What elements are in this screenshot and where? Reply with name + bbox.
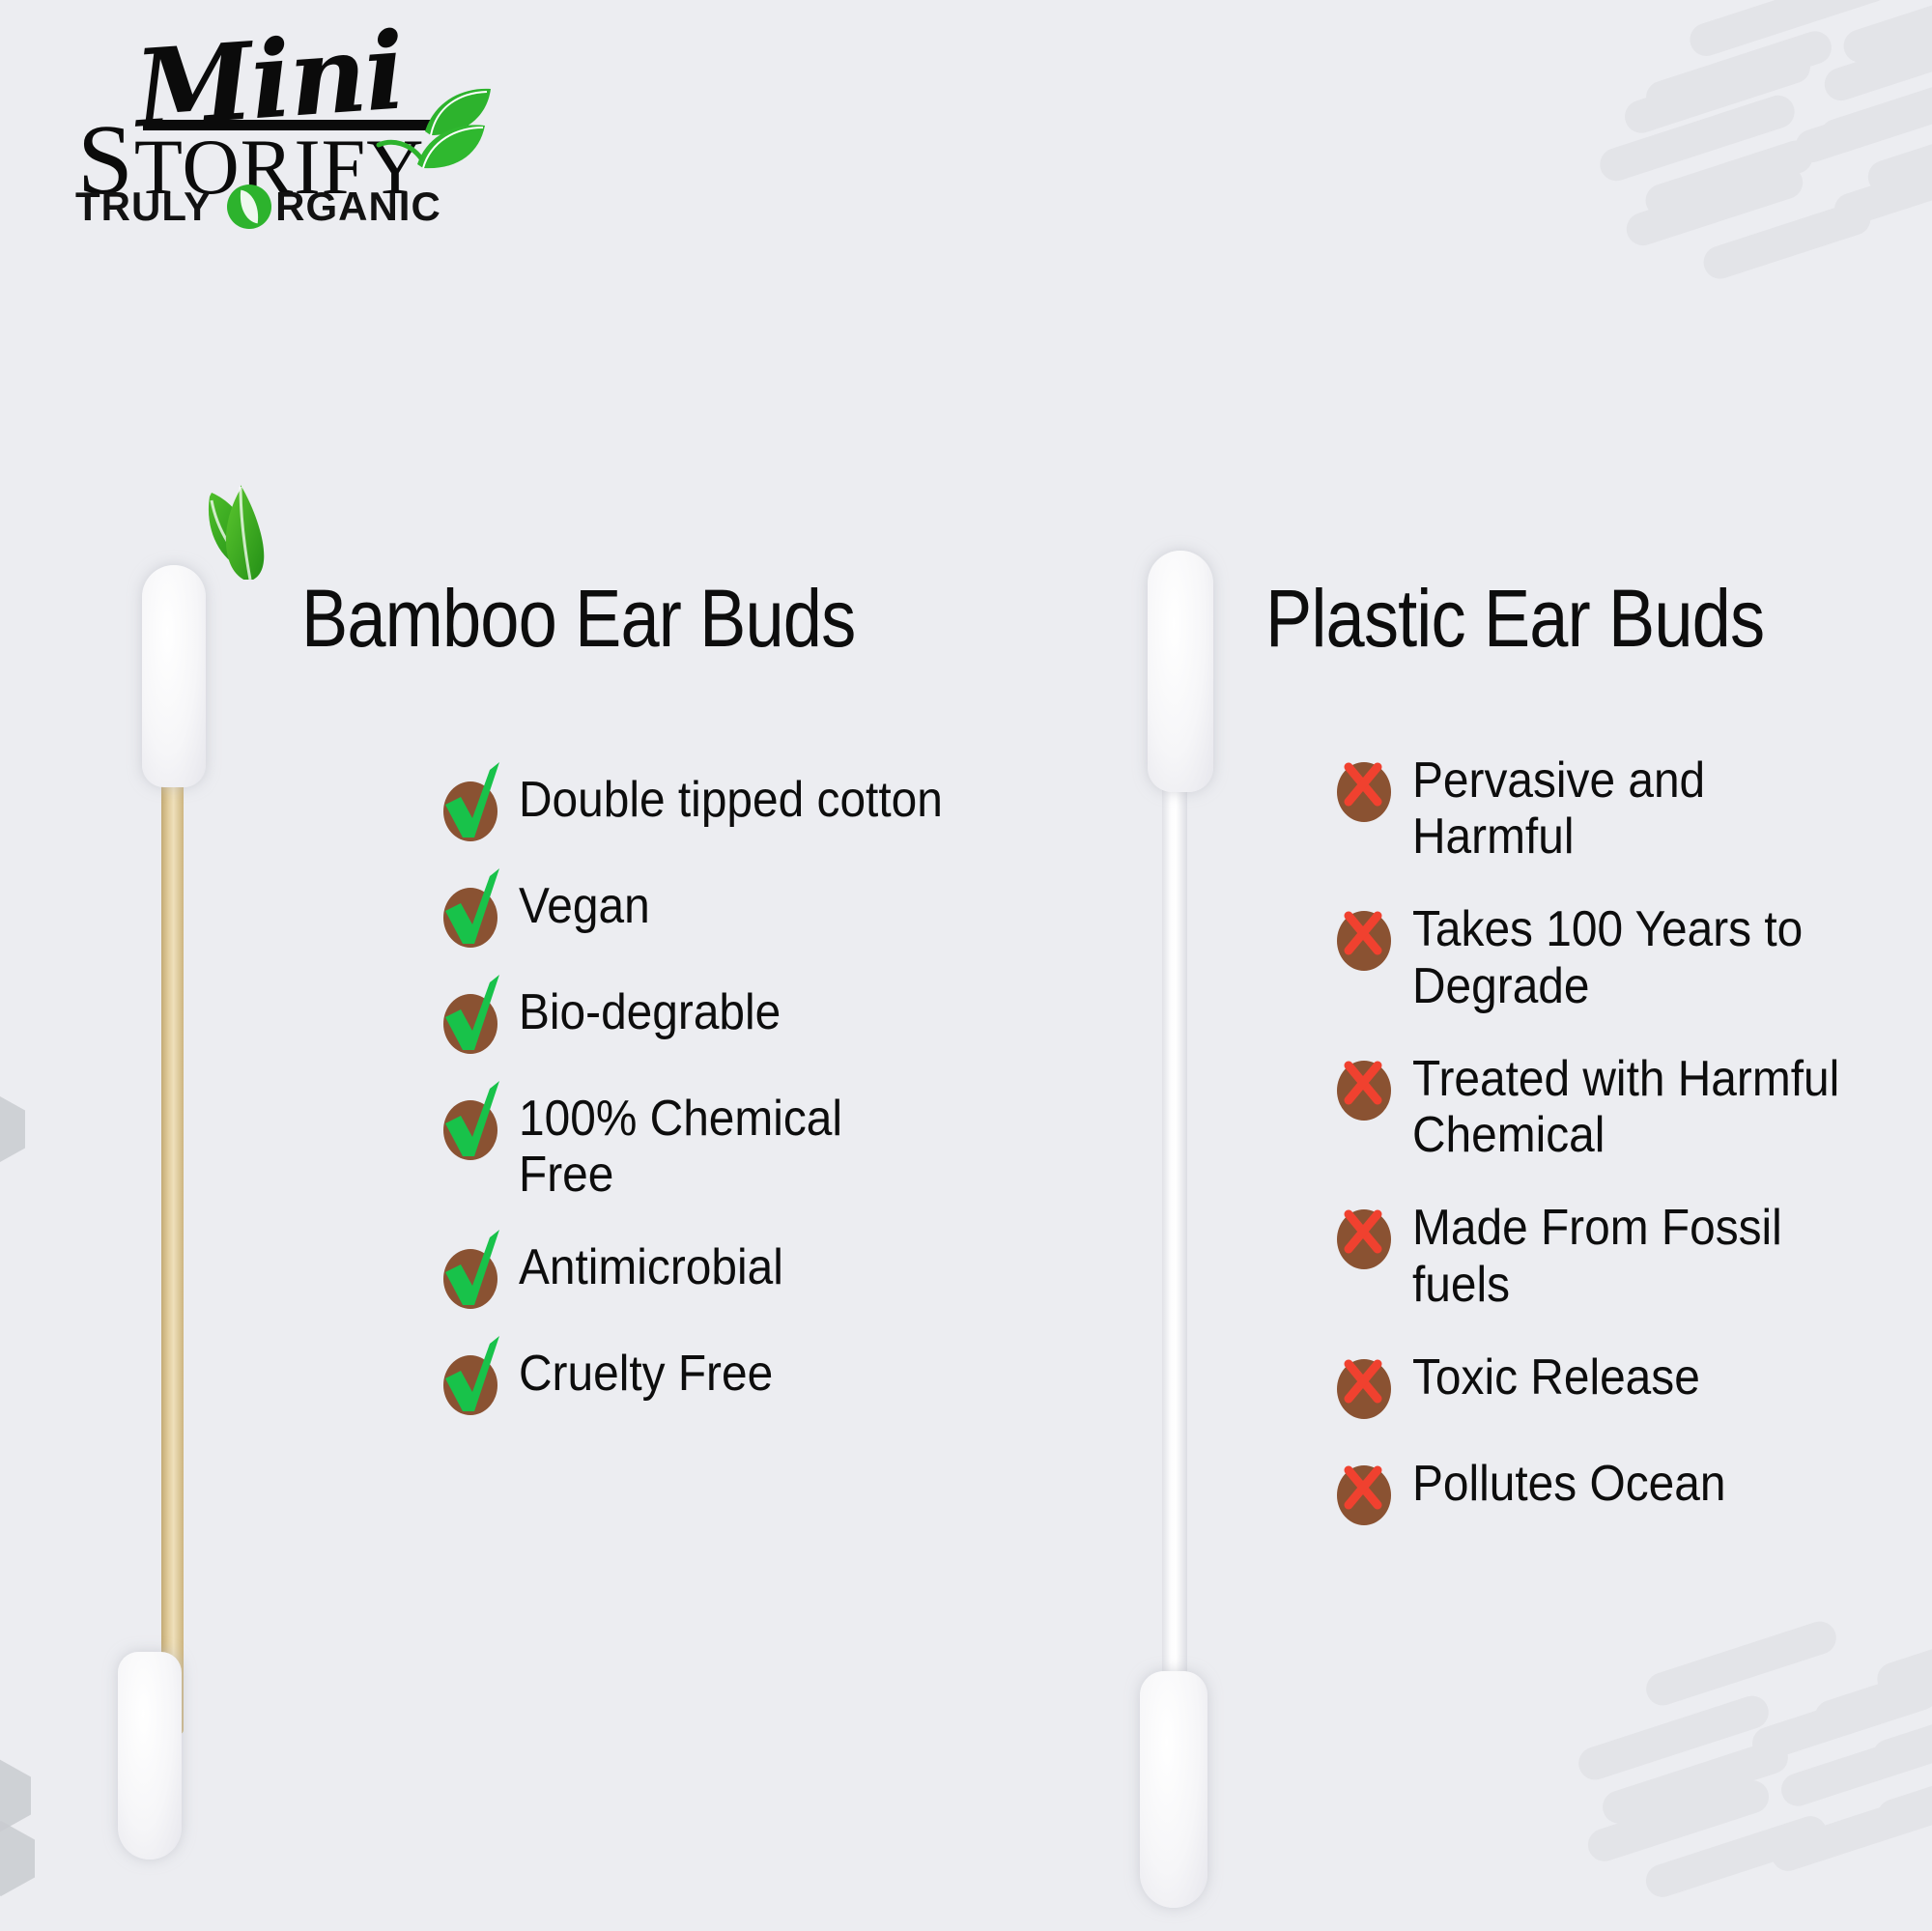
check-icon xyxy=(440,984,501,1054)
plastic-feature-list: Pervasive and Harmful Takes 100 Years to… xyxy=(1333,749,1932,1558)
check-icon xyxy=(440,772,501,841)
bamboo-cotton-swab xyxy=(116,565,222,1860)
list-item: Toxic Release xyxy=(1333,1346,1932,1419)
cross-mark-glyph xyxy=(1335,1458,1391,1518)
check-icon xyxy=(440,1346,501,1415)
cross-icon xyxy=(1333,901,1395,971)
check-mark-glyph xyxy=(436,1332,509,1415)
cross-mark-glyph xyxy=(1335,903,1391,963)
leaf-pair-icon xyxy=(198,454,343,580)
plastic-cotton-swab xyxy=(1121,551,1227,1903)
check-mark-glyph xyxy=(436,1226,509,1309)
list-item: Antimicrobial xyxy=(440,1235,1058,1309)
feature-label: Made From Fossil fuels xyxy=(1412,1196,1782,1312)
plastic-title: Plastic Ear Buds xyxy=(1265,572,1764,666)
check-icon xyxy=(440,878,501,948)
feature-label: Pollutes Ocean xyxy=(1412,1452,1725,1512)
cotton-tip-top xyxy=(1148,551,1213,792)
list-item: Pervasive and Harmful xyxy=(1333,749,1932,865)
list-item: Pollutes Ocean xyxy=(1333,1452,1932,1525)
cotton-tip-bottom xyxy=(1140,1671,1207,1908)
feature-label: Double tipped cotton xyxy=(519,768,943,828)
cross-mark-glyph xyxy=(1335,754,1391,814)
list-item: Vegan xyxy=(440,874,1058,948)
check-icon xyxy=(440,1091,501,1160)
cross-icon xyxy=(1333,753,1395,822)
feature-label: Pervasive and Harmful xyxy=(1412,749,1705,865)
cross-mark-glyph xyxy=(1335,1053,1391,1113)
check-icon xyxy=(440,1239,501,1309)
check-mark-glyph xyxy=(436,971,509,1054)
check-mark-glyph xyxy=(436,865,509,948)
list-item: Double tipped cotton xyxy=(440,768,1058,841)
cotton-tip-bottom xyxy=(118,1652,182,1860)
list-item: Bio-degrable xyxy=(440,980,1058,1054)
cotton-tip-top xyxy=(142,565,206,787)
bamboo-feature-list: Double tipped cotton Vegan Bio-degrable xyxy=(440,768,1058,1448)
plastic-stick xyxy=(1162,705,1187,1758)
feature-label: Takes 100 Years to Degrade xyxy=(1412,897,1803,1013)
feature-label: 100% Chemical Free xyxy=(519,1087,842,1203)
feature-label: Toxic Release xyxy=(1412,1346,1700,1406)
feature-label: Vegan xyxy=(519,874,650,934)
list-item: Cruelty Free xyxy=(440,1342,1058,1415)
cross-icon xyxy=(1333,1200,1395,1269)
feature-label: Antimicrobial xyxy=(519,1235,783,1295)
cross-icon xyxy=(1333,1349,1395,1419)
plastic-column: Plastic Ear Buds Pervasive and Harmful T… xyxy=(1072,0,1932,1931)
feature-label: Bio-degrable xyxy=(519,980,781,1040)
cross-mark-glyph xyxy=(1335,1351,1391,1411)
list-item: Made From Fossil fuels xyxy=(1333,1196,1932,1312)
bamboo-title: Bamboo Ear Buds xyxy=(301,572,855,666)
bamboo-stick xyxy=(161,710,184,1734)
cross-icon xyxy=(1333,1051,1395,1121)
list-item: Treated with Harmful Chemical xyxy=(1333,1047,1932,1163)
list-item: Takes 100 Years to Degrade xyxy=(1333,897,1932,1013)
cross-icon xyxy=(1333,1456,1395,1525)
list-item: 100% Chemical Free xyxy=(440,1087,1058,1203)
check-mark-glyph xyxy=(436,1077,509,1160)
feature-label: Treated with Harmful Chemical xyxy=(1412,1047,1839,1163)
cross-mark-glyph xyxy=(1335,1202,1391,1262)
feature-label: Cruelty Free xyxy=(519,1342,773,1402)
bamboo-column: Bamboo Ear Buds Double tipped cotton Veg… xyxy=(0,0,1072,1931)
check-mark-glyph xyxy=(436,758,509,841)
